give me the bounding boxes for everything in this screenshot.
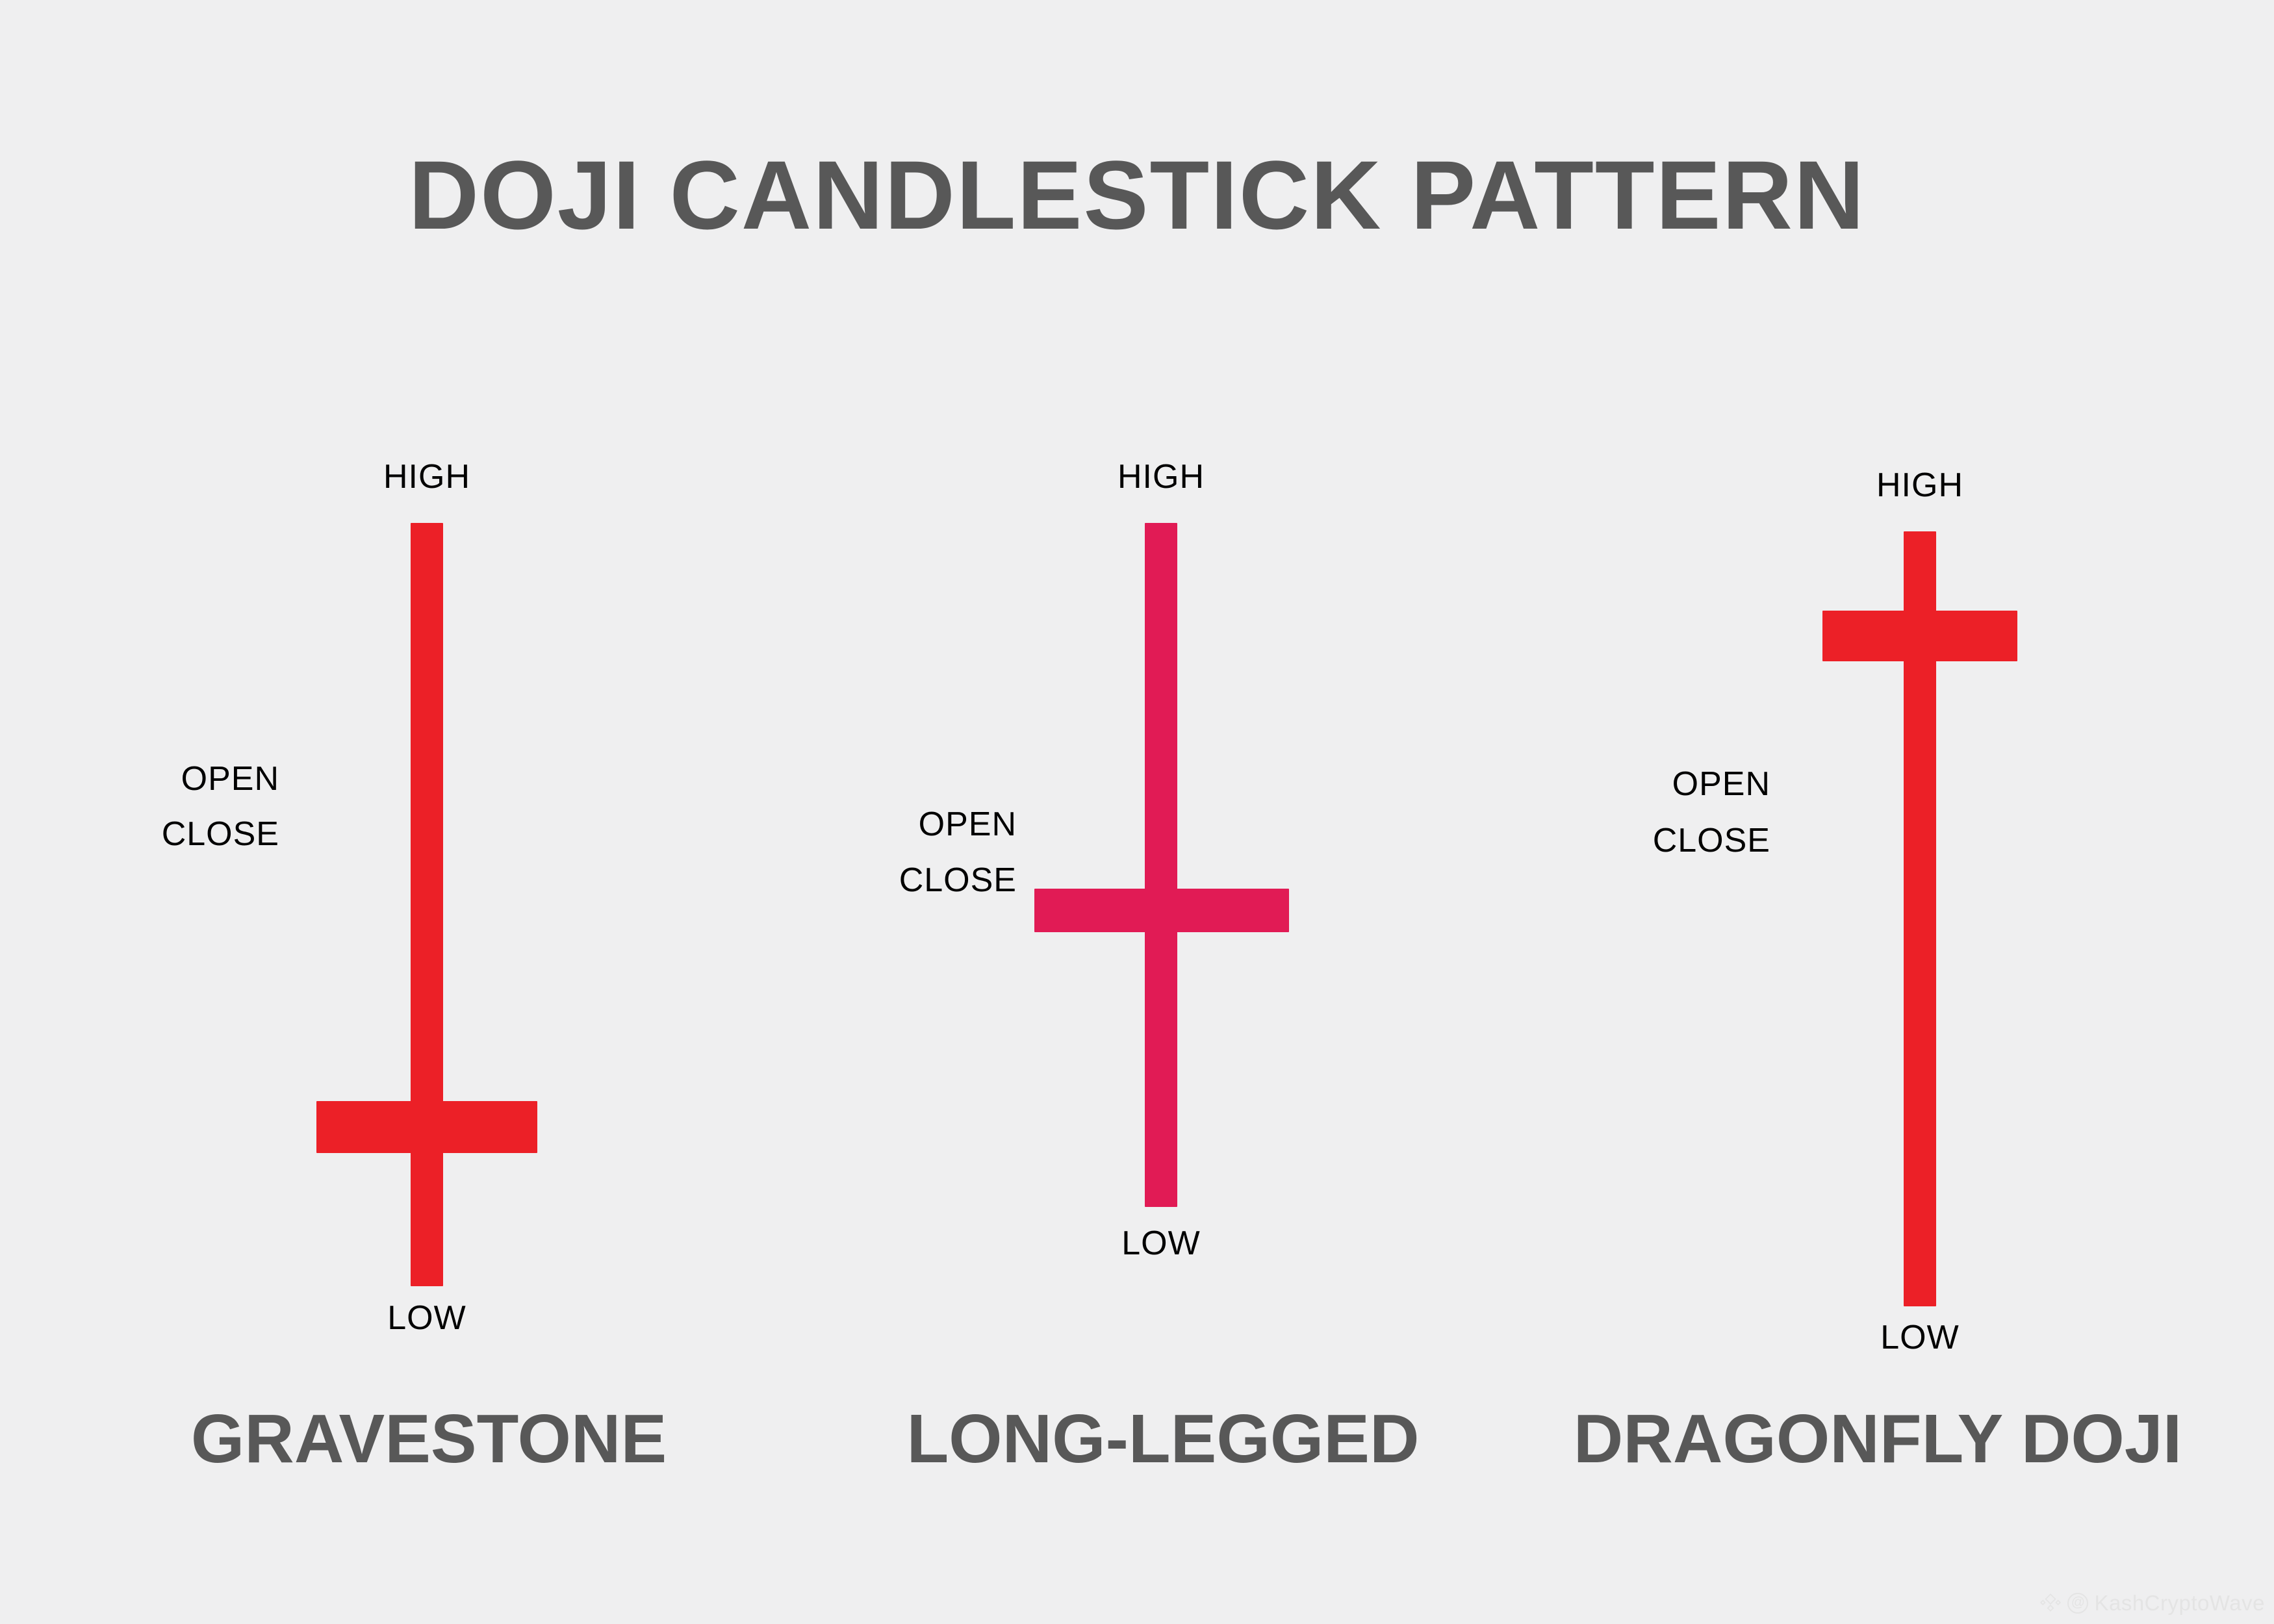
diagram-canvas: DOJI CANDLESTICK PATTERN HIGH OPEN CLOSE… — [0, 0, 2274, 1624]
candlestick-long-legged: HIGH OPEN CLOSE LOW — [806, 390, 1520, 1351]
label-high: HIGH — [264, 458, 589, 496]
candle-wick — [411, 523, 443, 1286]
watermark-handle: KashCryptoWave — [2094, 1592, 2265, 1615]
binance-diamond-icon — [2039, 1592, 2062, 1614]
candle-panel-gravestone: HIGH OPEN CLOSE LOW — [71, 390, 786, 1559]
label-open: OPEN — [1537, 765, 1770, 803]
caption-long-legged: LONG-LEGGED — [806, 1400, 1520, 1478]
label-high: HIGH — [1757, 466, 2082, 504]
label-open: OPEN — [789, 806, 1017, 843]
label-low: LOW — [264, 1299, 589, 1337]
candlestick-dragonfly: HIGH OPEN CLOSE LOW — [1527, 390, 2242, 1351]
label-close: CLOSE — [1537, 822, 1770, 859]
label-close: CLOSE — [789, 861, 1017, 899]
candlestick-gravestone: HIGH OPEN CLOSE LOW — [71, 390, 786, 1351]
label-low: LOW — [1757, 1319, 2082, 1356]
at-symbol: @ — [2067, 1593, 2088, 1614]
page-title: DOJI CANDLESTICK PATTERN — [0, 140, 2274, 250]
candle-body — [316, 1101, 537, 1153]
label-open: OPEN — [45, 760, 279, 798]
candle-body — [1034, 889, 1289, 932]
caption-dragonfly: DRAGONFLY DOJI — [1520, 1400, 2235, 1478]
label-low: LOW — [999, 1224, 1323, 1262]
candle-panel-long-legged: HIGH OPEN CLOSE LOW — [806, 390, 1520, 1559]
label-close: CLOSE — [45, 815, 279, 853]
watermark: @ KashCryptoWave — [2039, 1592, 2265, 1615]
candle-wick — [1145, 523, 1177, 1207]
label-high: HIGH — [999, 458, 1323, 496]
caption-gravestone: GRAVESTONE — [71, 1400, 786, 1478]
candle-body — [1822, 611, 2017, 661]
candle-panel-dragonfly: HIGH OPEN CLOSE LOW — [1527, 390, 2242, 1559]
